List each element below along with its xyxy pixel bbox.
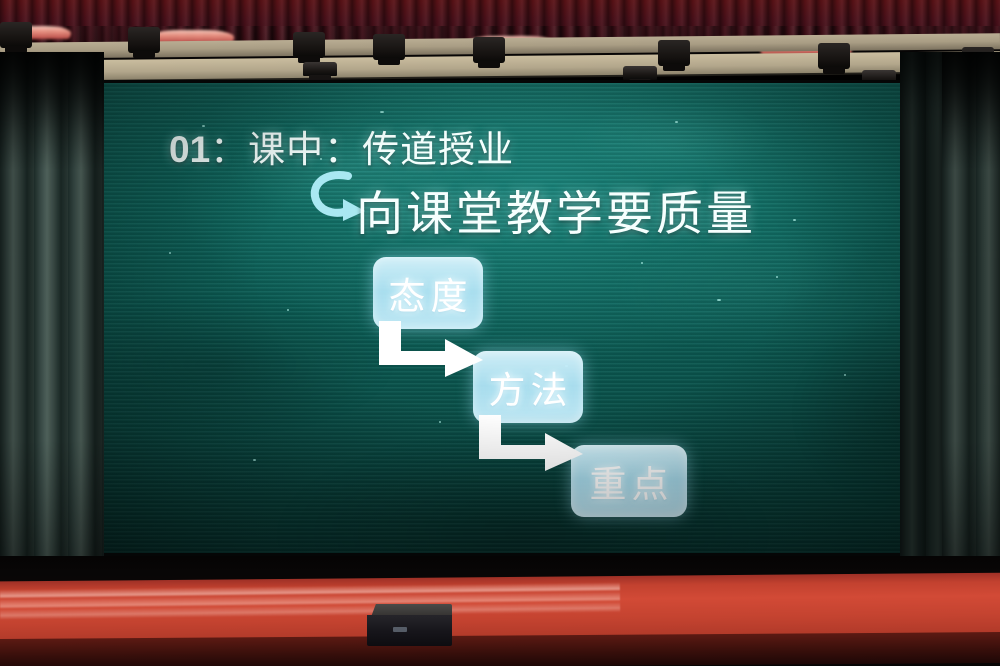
flow-box-attitude-label: 态度 [384, 266, 473, 320]
stage-photograph: 01：课中：传道授业 向课堂教学要质量 态度 方法 重点 [0, 0, 1000, 666]
monitor-indicator [393, 627, 407, 632]
stage-light-icon [373, 34, 405, 60]
stage-curtain-left [0, 52, 104, 590]
stage-light-icon [0, 22, 32, 48]
stage-light-icon [303, 62, 337, 76]
slide-title-line-2: 向课堂教学要质量 [356, 175, 756, 244]
stage-light-icon [128, 27, 160, 53]
flow-box-method-label: 方法 [484, 360, 573, 414]
flow-box-key-point[interactable]: 重点 [571, 445, 687, 517]
led-screen: 01：课中：传道授业 向课堂教学要质量 态度 方法 重点 [101, 83, 945, 553]
slide-section-number: 01 [169, 129, 210, 170]
stage-light-icon [473, 37, 505, 63]
monitor-front-face [367, 615, 452, 646]
flow-box-key-point-label: 重点 [585, 454, 674, 508]
stage-curtain-right [942, 52, 1000, 590]
slide-title-line-1: 01：课中：传道授业 [169, 119, 514, 173]
stage-light-icon [818, 43, 850, 69]
flow-box-method[interactable]: 方法 [473, 351, 583, 423]
stage-light-icon [658, 40, 690, 66]
elbow-arrow-icon [379, 321, 487, 377]
led-screen-frame: 01：课中：传道授业 向课堂教学要质量 态度 方法 重点 [98, 80, 948, 556]
flow-box-attitude[interactable]: 态度 [373, 257, 483, 329]
stage-light-icon [623, 66, 657, 80]
stage-monitor-speaker [367, 604, 452, 646]
slide-title-line-1-text: 课中：传道授业 [248, 130, 514, 171]
stage-curtain-right-dark [900, 52, 948, 590]
stage-floor-edge [0, 632, 1000, 666]
elbow-arrow-icon [479, 415, 587, 471]
slide-title-separator: ： [210, 130, 248, 171]
stage-light-icon [293, 32, 325, 58]
